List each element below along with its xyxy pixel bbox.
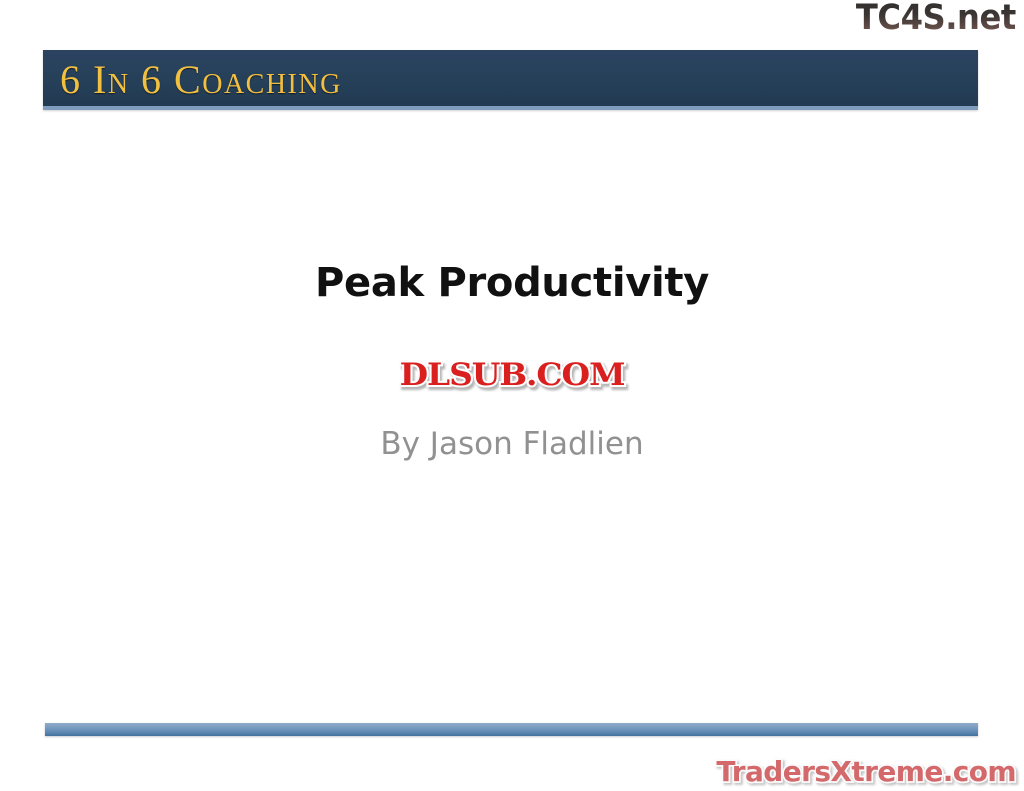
slide-body: Peak Productivity DLSUB.COM By Jason Fla…: [0, 255, 1024, 463]
tc4s-site-watermark: TC4S.net: [856, 0, 1016, 38]
slide-footer-divider: [45, 723, 978, 736]
presentation-slide: TC4S.net 6 In 6 Coaching Peak Productivi…: [0, 0, 1024, 791]
slide-header-banner: 6 In 6 Coaching: [43, 50, 978, 110]
dlsub-watermark-container: DLSUB.COM: [0, 358, 1024, 394]
slide-author-byline: By Jason Fladlien: [0, 425, 1024, 463]
page-title: Peak Productivity: [0, 255, 1024, 311]
dlsub-site-watermark: DLSUB.COM: [400, 358, 625, 392]
brand-title-label: 6 In 6 Coaching: [60, 57, 342, 102]
brand-title: 6 In 6 Coaching: [60, 54, 342, 106]
tradersxtreme-site-watermark: TradersXtreme.com: [716, 755, 1016, 789]
